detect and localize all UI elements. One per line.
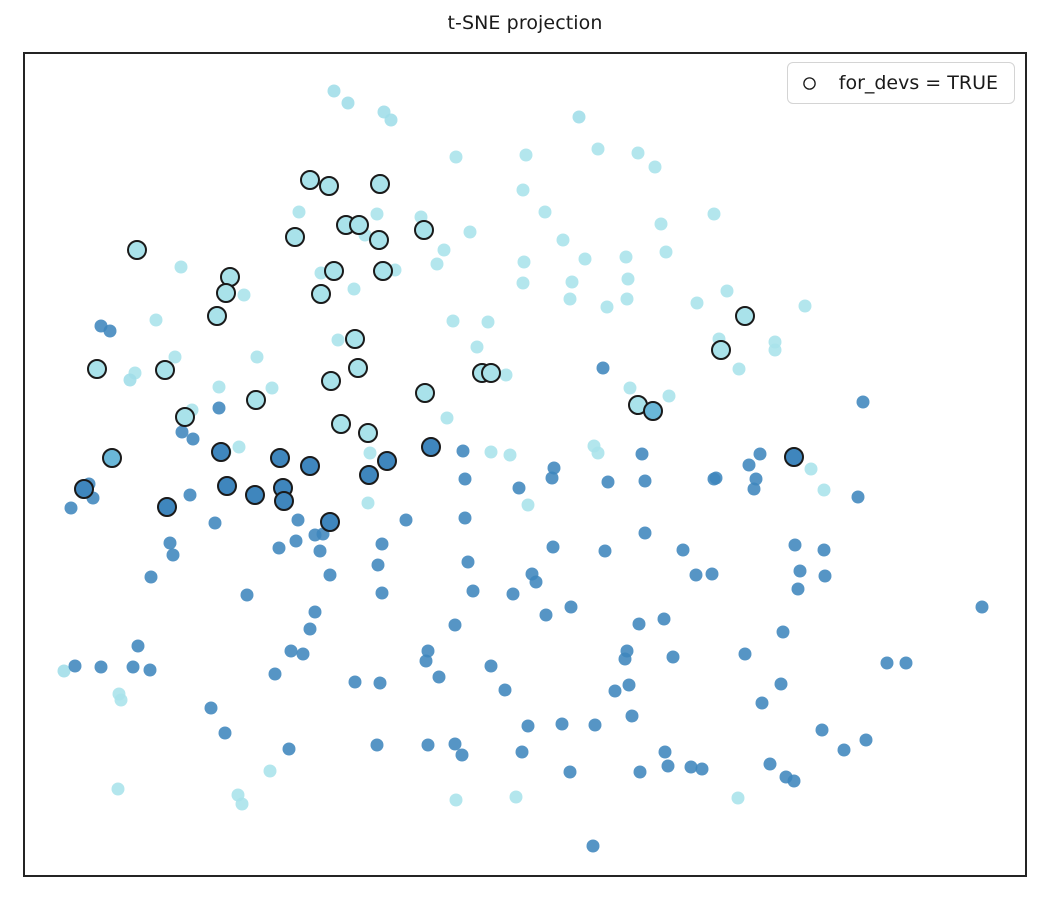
scatter-point[interactable] bbox=[332, 415, 350, 433]
scatter-point[interactable] bbox=[799, 300, 812, 313]
scatter-point[interactable] bbox=[517, 184, 530, 197]
scatter-point[interactable] bbox=[175, 261, 188, 274]
legend[interactable]: for_devs = TRUE bbox=[787, 62, 1015, 104]
scatter-point[interactable] bbox=[450, 151, 463, 164]
scatter-point[interactable] bbox=[322, 372, 340, 390]
scatter-point[interactable] bbox=[376, 538, 389, 551]
scatter-point[interactable] bbox=[350, 216, 368, 234]
scatter-point[interactable] bbox=[482, 364, 500, 382]
scatter-point[interactable] bbox=[208, 307, 226, 325]
series-for-devs-false bbox=[58, 85, 989, 853]
scatter-point[interactable] bbox=[639, 475, 652, 488]
scatter-point[interactable] bbox=[579, 253, 592, 266]
scatter-point[interactable] bbox=[309, 606, 322, 619]
scatter-point[interactable] bbox=[622, 273, 635, 286]
scatter-point[interactable] bbox=[621, 645, 634, 658]
scatter-point[interactable] bbox=[462, 556, 475, 569]
scatter-point[interactable] bbox=[69, 660, 82, 673]
scatter-point[interactable] bbox=[364, 447, 377, 460]
scatter-point[interactable] bbox=[371, 739, 384, 752]
scatter-point[interactable] bbox=[471, 341, 484, 354]
scatter-point[interactable] bbox=[464, 226, 477, 239]
scatter-point[interactable] bbox=[539, 206, 552, 219]
scatter-point[interactable] bbox=[733, 363, 746, 376]
scatter-point[interactable] bbox=[626, 710, 639, 723]
scatter-point[interactable] bbox=[184, 489, 197, 502]
scatter-point[interactable] bbox=[518, 256, 531, 269]
scatter-point[interactable] bbox=[621, 293, 634, 306]
scatter-point[interactable] bbox=[685, 761, 698, 774]
scatter-point[interactable] bbox=[587, 840, 600, 853]
scatter-point[interactable] bbox=[457, 445, 470, 458]
scatter-point[interactable] bbox=[209, 517, 222, 530]
scatter-point[interactable] bbox=[360, 466, 378, 484]
scatter-point[interactable] bbox=[167, 549, 180, 562]
scatter-point[interactable] bbox=[818, 484, 831, 497]
scatter-point[interactable] bbox=[205, 702, 218, 715]
scatter-point[interactable] bbox=[690, 569, 703, 582]
scatter-point[interactable] bbox=[620, 251, 633, 264]
scatter-point[interactable] bbox=[349, 676, 362, 689]
scatter-point[interactable] bbox=[187, 433, 200, 446]
scatter-point[interactable] bbox=[371, 175, 389, 193]
scatter-point[interactable] bbox=[764, 758, 777, 771]
scatter-point[interactable] bbox=[127, 661, 140, 674]
scatter-point[interactable] bbox=[649, 161, 662, 174]
scatter-point[interactable] bbox=[176, 408, 194, 426]
scatter-point[interactable] bbox=[400, 514, 413, 527]
scatter-point[interactable] bbox=[456, 749, 469, 762]
scatter-point[interactable] bbox=[573, 111, 586, 124]
scatter-point[interactable] bbox=[441, 412, 454, 425]
scatter-point[interactable] bbox=[667, 651, 680, 664]
scatter-point[interactable] bbox=[218, 477, 236, 495]
scatter-point[interactable] bbox=[976, 601, 989, 614]
scatter-point[interactable] bbox=[236, 798, 249, 811]
scatter-point[interactable] bbox=[816, 724, 829, 737]
scatter-point[interactable] bbox=[293, 206, 306, 219]
scatter-point[interactable] bbox=[530, 576, 543, 589]
scatter-point[interactable] bbox=[431, 258, 444, 271]
scatter-point[interactable] bbox=[599, 545, 612, 558]
scatter-point[interactable] bbox=[485, 446, 498, 459]
scatter-point[interactable] bbox=[158, 498, 176, 516]
scatter-point[interactable] bbox=[516, 746, 529, 759]
scatter-point[interactable] bbox=[213, 402, 226, 415]
scatter-point[interactable] bbox=[144, 664, 157, 677]
scatter-point[interactable] bbox=[655, 218, 668, 231]
scatter-point[interactable] bbox=[433, 671, 446, 684]
scatter-point[interactable] bbox=[359, 424, 377, 442]
scatter-point[interactable] bbox=[292, 514, 305, 527]
scatter-point[interactable] bbox=[819, 570, 832, 583]
scatter-point[interactable] bbox=[588, 440, 601, 453]
scatter-point[interactable] bbox=[712, 341, 730, 359]
scatter-point[interactable] bbox=[805, 463, 818, 476]
scatter-point[interactable] bbox=[785, 448, 803, 466]
scatter-point[interactable] bbox=[95, 661, 108, 674]
scatter-point[interactable] bbox=[485, 660, 498, 673]
scatter-point[interactable] bbox=[374, 262, 392, 280]
scatter-point[interactable] bbox=[639, 527, 652, 540]
scatter-point[interactable] bbox=[104, 325, 117, 338]
scatter-point[interactable] bbox=[743, 459, 756, 472]
scatter-point[interactable] bbox=[176, 426, 189, 439]
scatter-point[interactable] bbox=[696, 763, 709, 776]
scatter-point[interactable] bbox=[449, 738, 462, 751]
scatter-point[interactable] bbox=[459, 473, 472, 486]
scatter-point[interactable] bbox=[275, 492, 293, 510]
scatter-point[interactable] bbox=[103, 449, 121, 467]
scatter-point[interactable] bbox=[708, 208, 721, 221]
scatter-point[interactable] bbox=[602, 476, 615, 489]
scatter-point[interactable] bbox=[750, 473, 763, 486]
scatter-point[interactable] bbox=[362, 497, 375, 510]
scatter-point[interactable] bbox=[634, 766, 647, 779]
scatter-point[interactable] bbox=[564, 766, 577, 779]
scatter-point[interactable] bbox=[838, 744, 851, 757]
scatter-point[interactable] bbox=[510, 791, 523, 804]
scatter-point[interactable] bbox=[346, 330, 364, 348]
scatter-point[interactable] bbox=[325, 262, 343, 280]
scatter-point[interactable] bbox=[467, 585, 480, 598]
scatter-point[interactable] bbox=[609, 685, 622, 698]
scatter-point[interactable] bbox=[659, 746, 672, 759]
scatter-point[interactable] bbox=[320, 177, 338, 195]
scatter-point[interactable] bbox=[522, 499, 535, 512]
scatter-point[interactable] bbox=[721, 285, 734, 298]
scatter-point[interactable] bbox=[266, 382, 279, 395]
scatter-point[interactable] bbox=[565, 601, 578, 614]
scatter-point[interactable] bbox=[499, 684, 512, 697]
scatter-point[interactable] bbox=[794, 565, 807, 578]
scatter-point[interactable] bbox=[756, 697, 769, 710]
scatter-point[interactable] bbox=[482, 316, 495, 329]
scatter-point[interactable] bbox=[792, 583, 805, 596]
scatter-point[interactable] bbox=[169, 351, 182, 364]
scatter-point[interactable] bbox=[632, 147, 645, 160]
scatter-point[interactable] bbox=[290, 535, 303, 548]
scatter-point[interactable] bbox=[314, 545, 327, 558]
scatter-point[interactable] bbox=[233, 441, 246, 454]
scatter-point[interactable] bbox=[285, 645, 298, 658]
scatter-point[interactable] bbox=[644, 402, 662, 420]
scatter-point[interactable] bbox=[251, 351, 264, 364]
scatter-point[interactable] bbox=[589, 719, 602, 732]
scatter-point[interactable] bbox=[283, 743, 296, 756]
scatter-point[interactable] bbox=[328, 85, 341, 98]
scatter-point[interactable] bbox=[247, 391, 265, 409]
scatter-point[interactable] bbox=[881, 657, 894, 670]
legend-open-circle-icon bbox=[802, 76, 817, 91]
scatter-point[interactable] bbox=[754, 448, 767, 461]
scatter-svg bbox=[25, 54, 1027, 877]
scatter-point[interactable] bbox=[213, 381, 226, 394]
scatter-point[interactable] bbox=[556, 718, 569, 731]
scatter-point[interactable] bbox=[65, 502, 78, 515]
scatter-point[interactable] bbox=[132, 640, 145, 653]
scatter-point[interactable] bbox=[449, 619, 462, 632]
scatter-point[interactable] bbox=[124, 374, 137, 387]
scatter-point[interactable] bbox=[376, 587, 389, 600]
scatter-point[interactable] bbox=[164, 537, 177, 550]
scatter-point[interactable] bbox=[739, 648, 752, 661]
scatter-point[interactable] bbox=[663, 390, 676, 403]
scatter-point[interactable] bbox=[128, 241, 146, 259]
scatter-point[interactable] bbox=[547, 541, 560, 554]
scatter-point[interactable] bbox=[592, 143, 605, 156]
scatter-point[interactable] bbox=[775, 678, 788, 691]
scatter-point[interactable] bbox=[818, 544, 831, 557]
scatter-point[interactable] bbox=[304, 623, 317, 636]
scatter-point[interactable] bbox=[113, 688, 126, 701]
scatter-point[interactable] bbox=[520, 149, 533, 162]
plot-area[interactable]: for_devs = TRUE bbox=[23, 52, 1027, 877]
scatter-point[interactable] bbox=[504, 449, 517, 462]
scatter-point[interactable] bbox=[422, 438, 440, 456]
scatter-point[interactable] bbox=[150, 314, 163, 327]
scatter-point[interactable] bbox=[857, 396, 870, 409]
scatter-point[interactable] bbox=[691, 297, 704, 310]
scatter-point[interactable] bbox=[321, 513, 339, 531]
legend-label-for-devs: for_devs = TRUE bbox=[839, 72, 998, 94]
scatter-point[interactable] bbox=[371, 208, 384, 221]
scatter-point[interactable] bbox=[789, 539, 802, 552]
figure-canvas: t-SNE projection for_devs = TRUE bbox=[0, 0, 1050, 900]
scatter-point[interactable] bbox=[736, 307, 754, 325]
scatter-point[interactable] bbox=[309, 529, 322, 542]
scatter-point[interactable] bbox=[708, 473, 721, 486]
scatter-point[interactable] bbox=[522, 720, 535, 733]
scatter-point[interactable] bbox=[415, 221, 433, 239]
scatter-point[interactable] bbox=[450, 794, 463, 807]
scatter-point[interactable] bbox=[769, 344, 782, 357]
scatter-point[interactable] bbox=[597, 362, 610, 375]
series-for-devs-true bbox=[75, 171, 803, 531]
scatter-point[interactable] bbox=[513, 482, 526, 495]
scatter-point[interactable] bbox=[264, 765, 277, 778]
page-title: t-SNE projection bbox=[0, 12, 1050, 34]
scatter-point[interactable] bbox=[349, 359, 367, 377]
scatter-point[interactable] bbox=[348, 283, 361, 296]
scatter-point[interactable] bbox=[378, 452, 396, 470]
scatter-point[interactable] bbox=[246, 486, 264, 504]
scatter-point[interactable] bbox=[312, 285, 330, 303]
scatter-point[interactable] bbox=[633, 618, 646, 631]
scatter-point[interactable] bbox=[301, 171, 319, 189]
scatter-point[interactable] bbox=[566, 276, 579, 289]
scatter-point[interactable] bbox=[75, 480, 93, 498]
scatter-point[interactable] bbox=[241, 589, 254, 602]
scatter-points-layer bbox=[25, 54, 1025, 875]
scatter-point[interactable] bbox=[238, 289, 251, 302]
scatter-point[interactable] bbox=[860, 734, 873, 747]
scatter-point[interactable] bbox=[112, 783, 125, 796]
scatter-point[interactable] bbox=[297, 648, 310, 661]
scatter-point[interactable] bbox=[540, 609, 553, 622]
scatter-point[interactable] bbox=[557, 234, 570, 247]
scatter-point[interactable] bbox=[324, 569, 337, 582]
scatter-point[interactable] bbox=[732, 792, 745, 805]
scatter-point[interactable] bbox=[301, 457, 319, 475]
scatter-point[interactable] bbox=[385, 114, 398, 127]
scatter-point[interactable] bbox=[156, 361, 174, 379]
scatter-point[interactable] bbox=[788, 775, 801, 788]
scatter-point[interactable] bbox=[623, 679, 636, 692]
scatter-point[interactable] bbox=[662, 760, 675, 773]
scatter-point[interactable] bbox=[342, 97, 355, 110]
scatter-point[interactable] bbox=[777, 626, 790, 639]
scatter-point[interactable] bbox=[212, 443, 230, 461]
scatter-point[interactable] bbox=[624, 382, 637, 395]
scatter-point[interactable] bbox=[422, 645, 435, 658]
scatter-point[interactable] bbox=[271, 449, 289, 467]
scatter-point[interactable] bbox=[564, 293, 577, 306]
scatter-point[interactable] bbox=[416, 384, 434, 402]
scatter-point[interactable] bbox=[636, 448, 649, 461]
scatter-point[interactable] bbox=[145, 571, 158, 584]
scatter-point[interactable] bbox=[459, 512, 472, 525]
scatter-point[interactable] bbox=[601, 301, 614, 314]
scatter-point[interactable] bbox=[677, 544, 690, 557]
scatter-point[interactable] bbox=[660, 246, 673, 259]
scatter-point[interactable] bbox=[438, 244, 451, 257]
scatter-point[interactable] bbox=[332, 334, 345, 347]
scatter-point[interactable] bbox=[422, 739, 435, 752]
scatter-point[interactable] bbox=[286, 228, 304, 246]
scatter-point[interactable] bbox=[546, 472, 559, 485]
scatter-point[interactable] bbox=[507, 588, 520, 601]
scatter-point[interactable] bbox=[217, 284, 235, 302]
scatter-point[interactable] bbox=[269, 668, 282, 681]
scatter-point[interactable] bbox=[88, 360, 106, 378]
scatter-point[interactable] bbox=[517, 277, 530, 290]
scatter-point[interactable] bbox=[500, 369, 513, 382]
scatter-point[interactable] bbox=[219, 727, 232, 740]
scatter-point[interactable] bbox=[273, 542, 286, 555]
scatter-point[interactable] bbox=[852, 491, 865, 504]
scatter-point[interactable] bbox=[370, 231, 388, 249]
scatter-point[interactable] bbox=[706, 568, 719, 581]
scatter-point[interactable] bbox=[372, 559, 385, 572]
scatter-point[interactable] bbox=[374, 677, 387, 690]
scatter-point[interactable] bbox=[900, 657, 913, 670]
scatter-point[interactable] bbox=[658, 613, 671, 626]
scatter-point[interactable] bbox=[447, 315, 460, 328]
